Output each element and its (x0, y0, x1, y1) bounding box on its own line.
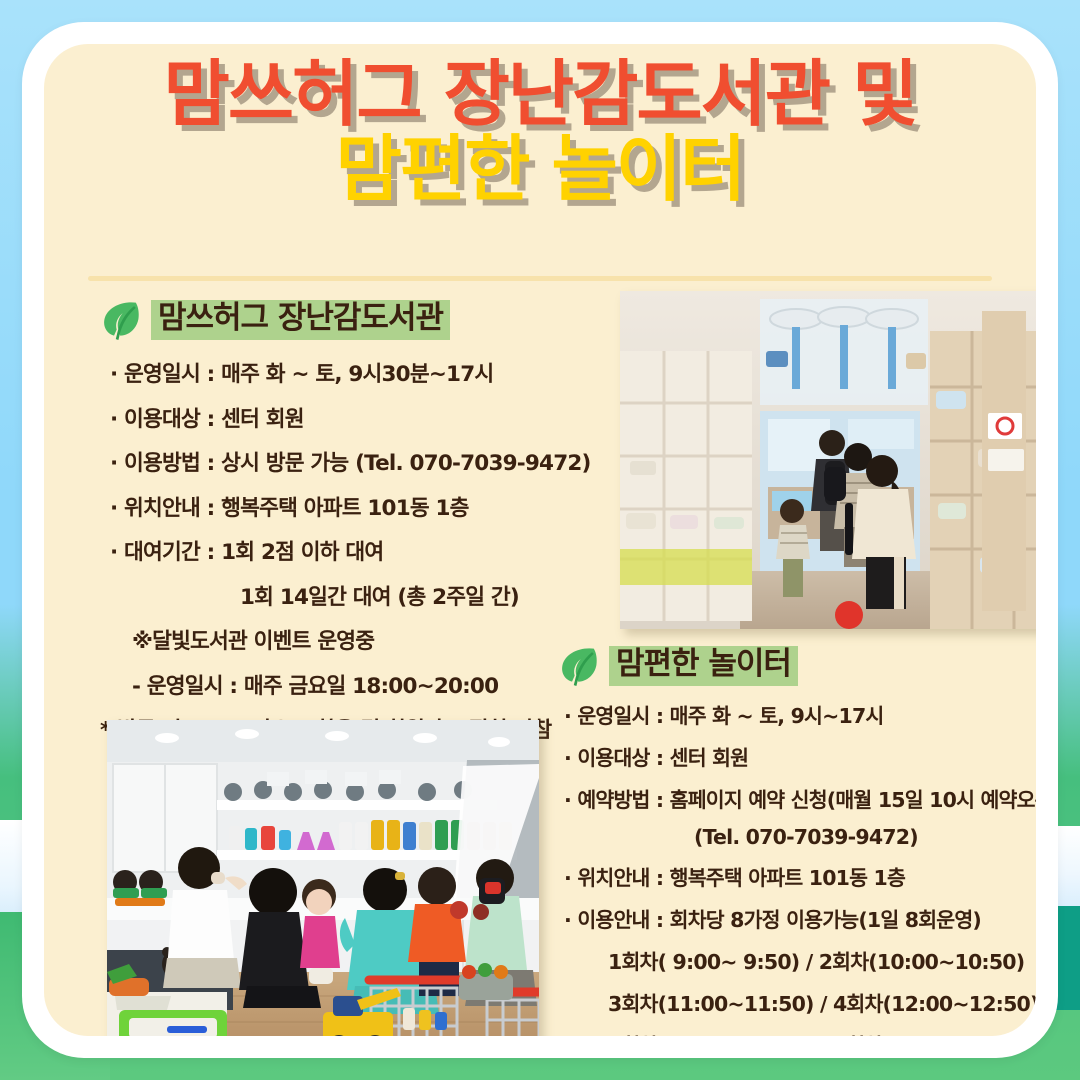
playground-info-line-8: 3회차(11:00~11:50) / 4회차(12:00~12:50) (564, 987, 1036, 1017)
playroom-interior-photo (107, 720, 539, 1036)
section-heading-library-label: 맘쓰허그 장난감도서관 (151, 300, 450, 340)
title-line-1: 맘쓰허그 장난감도서관 및 (44, 58, 1036, 131)
library-info-line-4: · 위치안내 : 행복주택 아파트 101동 1층 (110, 491, 591, 522)
title-divider (88, 276, 992, 281)
section-heading-playground: 맘편한 놀이터 (558, 646, 798, 686)
poster-title: 맘쓰허그 장난감도서관 및 맘편한 놀이터 (44, 58, 1036, 207)
playground-info-line-6: · 이용안내 : 회차당 8가정 이용가능(1일 8회운영) (564, 903, 1036, 933)
playground-info-line-3: · 예약방법 : 홈페이지 예약 신청(매월 15일 10시 예약오픈) (564, 783, 1036, 813)
library-info-line-6: 1회 14일간 대여 (총 2주일 간) (110, 580, 591, 611)
library-info-line-7: ※달빛도서관 이벤트 운영중 (110, 624, 591, 655)
library-info-list: · 운영일시 : 매주 화 ~ 토, 9시30분~17시· 이용대상 : 센터 … (110, 357, 591, 758)
playground-info-line-4: (Tel. 070-7039-9472) (564, 825, 1036, 849)
playground-info-line-1: · 운영일시 : 매주 화 ~ 토, 9시~17시 (564, 699, 1036, 729)
playground-info-line-2: · 이용대상 : 센터 회원 (564, 741, 1036, 771)
leaf-icon (558, 646, 600, 686)
library-info-line-8: - 운영일시 : 매주 금요일 18:00~20:00 (110, 669, 591, 700)
toy-library-interior-photo (620, 291, 1036, 629)
library-info-line-5: · 대여기간 : 1회 2점 이하 대여 (110, 535, 591, 566)
content-card: 맘쓰허그 장난감도서관 및 맘편한 놀이터 맘쓰허그 장난감도서관 · 운영일시… (44, 44, 1036, 1036)
section-heading-library: 맘쓰허그 장난감도서관 (100, 300, 450, 340)
leaf-icon (100, 300, 142, 340)
library-info-line-1: · 운영일시 : 매주 화 ~ 토, 9시30분~17시 (110, 357, 591, 388)
library-info-line-2: · 이용대상 : 센터 회원 (110, 402, 591, 433)
playground-info-list: · 운영일시 : 매주 화 ~ 토, 9시~17시· 이용대상 : 센터 회원·… (564, 699, 1036, 1036)
poster-root: 맘쓰허그 장난감도서관 및 맘편한 놀이터 맘쓰허그 장난감도서관 · 운영일시… (0, 0, 1080, 1080)
section-heading-playground-label: 맘편한 놀이터 (609, 646, 798, 686)
library-info-line-3: · 이용방법 : 상시 방문 가능 (Tel. 070-7039-9472) (110, 446, 591, 477)
playground-info-line-5: · 위치안내 : 행복주택 아파트 101동 1층 (564, 861, 1036, 891)
title-line-2: 맘편한 놀이터 (44, 133, 1036, 206)
playground-info-line-7: 1회차( 9:00~ 9:50) / 2회차(10:00~10:50) (564, 945, 1036, 975)
playground-info-line-9: 5회차(13:00~13:50) / 6회차(14:00~14:50) (564, 1029, 1036, 1036)
